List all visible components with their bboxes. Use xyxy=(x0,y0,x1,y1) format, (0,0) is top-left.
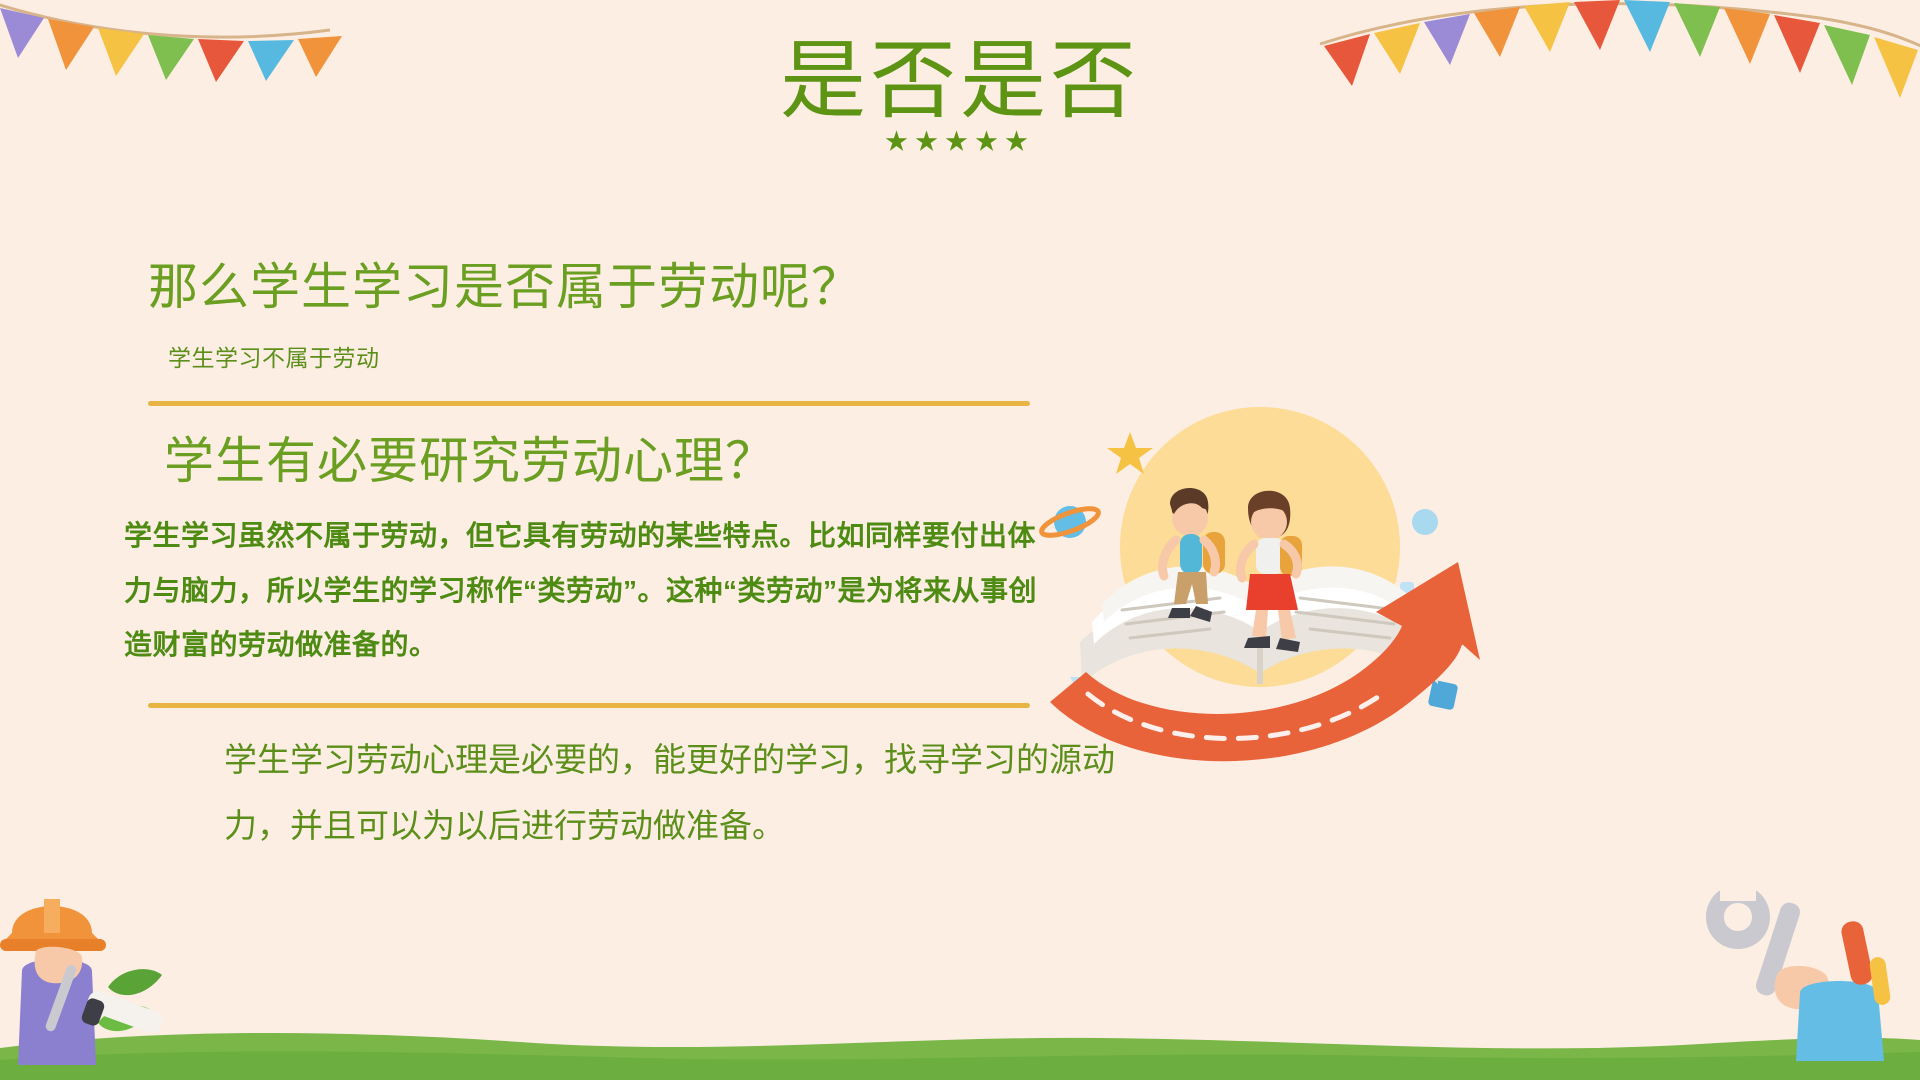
question-heading-1: 那么学生学习是否属于劳动呢？ xyxy=(148,258,1078,317)
slide-canvas: 是否是否 ★★★★★ 那么学生学习是否属于劳动呢？ 学生学习不属于劳动 学生有必… xyxy=(0,0,1920,1080)
page-title: 是否是否 xyxy=(0,38,1920,124)
grass-strip xyxy=(0,1022,1920,1080)
leaf-decor xyxy=(98,969,162,1031)
divider-2 xyxy=(148,703,1030,708)
hand-holding-paint-roller xyxy=(0,855,240,1070)
question-heading-2: 学生有必要研究劳动心理？ xyxy=(164,432,1078,491)
star-rating: ★★★★★ xyxy=(0,130,1920,153)
open-book xyxy=(1080,566,1440,684)
content-column: 那么学生学习是否属于劳动呢？ 学生学习不属于劳动 学生有必要研究劳动心理？ 学生… xyxy=(148,258,1078,860)
divider-1 xyxy=(148,401,1030,406)
answer-text-2: 学生学习虽然不属于劳动，但它具有劳动的某些特点。比如同样要付出体力与脑力，所以学… xyxy=(124,509,1044,673)
girl-figure xyxy=(1241,491,1303,652)
closing-paragraph: 学生学习劳动心理是必要的，能更好的学习，找寻学习的源动力，并且可以为以后进行劳动… xyxy=(224,728,1124,860)
hand-holding-wrench xyxy=(1660,861,1910,1066)
title-block: 是否是否 ★★★★★ xyxy=(0,38,1920,153)
planet-decor xyxy=(1039,432,1468,735)
boy-figure xyxy=(1163,488,1226,622)
wrench-icon xyxy=(1706,883,1802,998)
answer-text-1: 学生学习不属于劳动 xyxy=(168,339,1078,373)
